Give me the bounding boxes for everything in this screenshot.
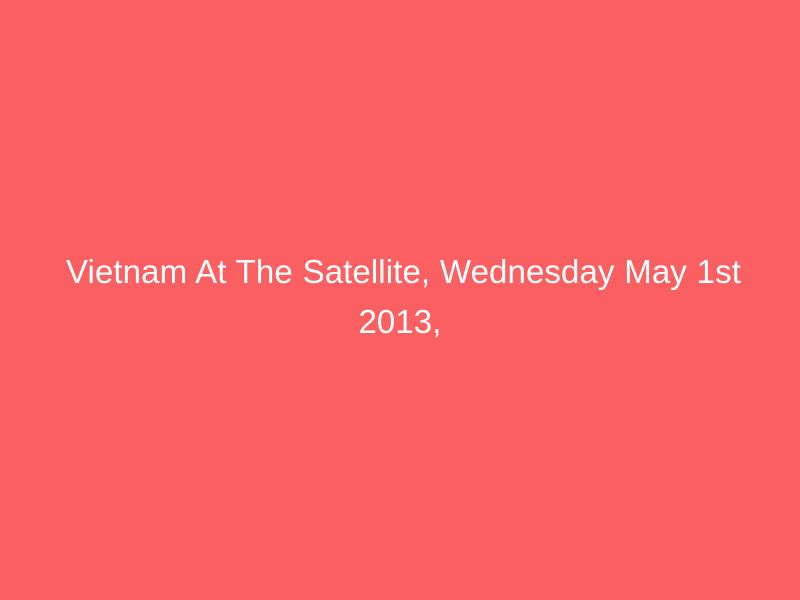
placeholder-canvas: Vietnam At The Satellite, Wednesday May … [0,0,800,600]
caption-line-1: Vietnam At The Satellite, Wednesday May … [66,247,734,297]
caption-line-2: 2013, [66,297,734,347]
caption-block: Vietnam At The Satellite, Wednesday May … [60,247,740,347]
